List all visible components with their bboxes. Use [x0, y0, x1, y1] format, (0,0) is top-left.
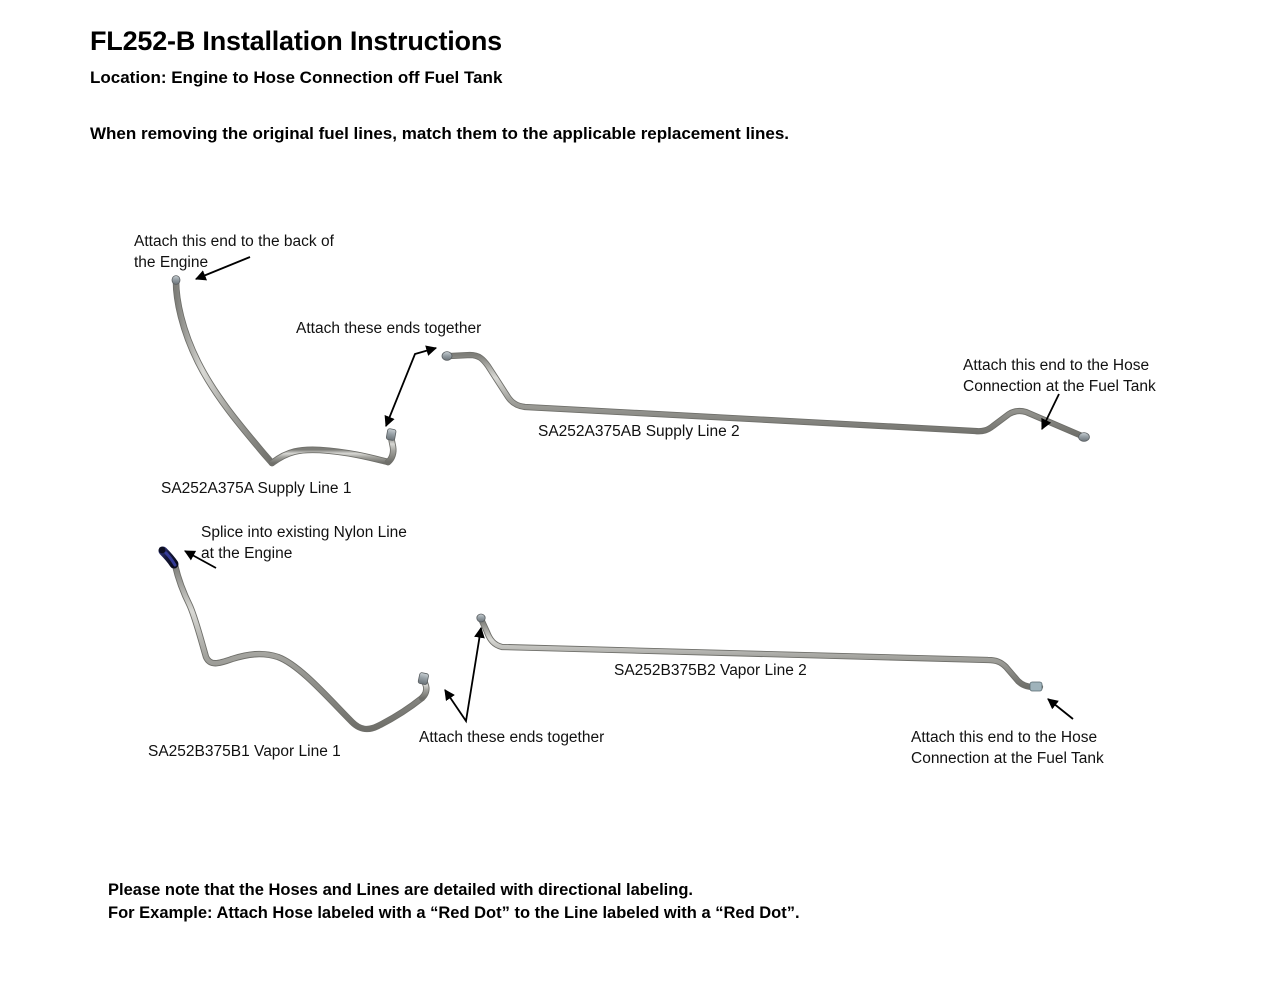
annotation-fuel-tank-upper-line1: Attach this end to the Hose [963, 355, 1156, 376]
annotation-attach-ends-lower: Attach these ends together [419, 727, 604, 748]
fitting-supply-line-1-connector-end [386, 428, 396, 440]
part-supply-line-1 [172, 276, 396, 463]
annotation-splice-nylon-line2: at the Engine [201, 543, 407, 564]
page-subtitle: Location: Engine to Hose Connection off … [90, 68, 502, 88]
annotation-splice-nylon: Splice into existing Nylon Line at the E… [201, 522, 407, 564]
installation-instructions-page: FL252-B Installation Instructions Locati… [0, 0, 1280, 989]
part-vapor-line-1 [159, 547, 429, 729]
part-label-supply-line-1: SA252A375A Supply Line 1 [161, 480, 351, 498]
splice-connector-vapor-line-1 [163, 551, 174, 564]
page-title: FL252-B Installation Instructions [90, 26, 502, 57]
arrow-attach-ends-lower [445, 628, 481, 721]
annotation-engine-end-line1: Attach this end to the back of [134, 231, 334, 252]
part-label-vapor-line-1: SA252B375B1 Vapor Line 1 [148, 743, 341, 761]
annotation-fuel-tank-lower: Attach this end to the Hose Connection a… [911, 727, 1104, 769]
fitting-supply-line-2-connector-end [442, 352, 452, 361]
annotation-fuel-tank-lower-line2: Connection at the Fuel Tank [911, 748, 1104, 769]
fitting-vapor-line-2-fuel-tank-end [1030, 682, 1042, 691]
part-label-supply-line-2: SA252A375AB Supply Line 2 [538, 423, 740, 441]
fitting-vapor-line-2-connector-end [477, 614, 485, 622]
annotation-attach-ends-upper: Attach these ends together [296, 318, 481, 339]
fitting-supply-line-2-fuel-tank-end [1079, 433, 1090, 442]
annotation-engine-end: Attach this end to the back of the Engin… [134, 231, 334, 273]
footer-note-line-2: For Example: Attach Hose labeled with a … [108, 904, 800, 923]
annotation-fuel-tank-upper: Attach this end to the Hose Connection a… [963, 355, 1156, 397]
annotation-splice-nylon-line1: Splice into existing Nylon Line [201, 522, 407, 543]
arrow-fuel-tank-lower [1048, 699, 1073, 719]
part-label-vapor-line-2: SA252B375B2 Vapor Line 2 [614, 662, 807, 680]
fitting-vapor-line-1-connector-end [418, 672, 429, 685]
annotation-fuel-tank-upper-line2: Connection at the Fuel Tank [963, 376, 1156, 397]
arrow-fuel-tank-upper [1042, 394, 1059, 429]
arrow-attach-ends-upper [386, 348, 436, 426]
fitting-supply-line-1-engine-end [172, 276, 180, 285]
annotation-fuel-tank-lower-line1: Attach this end to the Hose [911, 727, 1104, 748]
page-instruction: When removing the original fuel lines, m… [90, 124, 789, 144]
footer-note-line-1: Please note that the Hoses and Lines are… [108, 881, 693, 900]
annotation-engine-end-line2: the Engine [134, 252, 334, 273]
